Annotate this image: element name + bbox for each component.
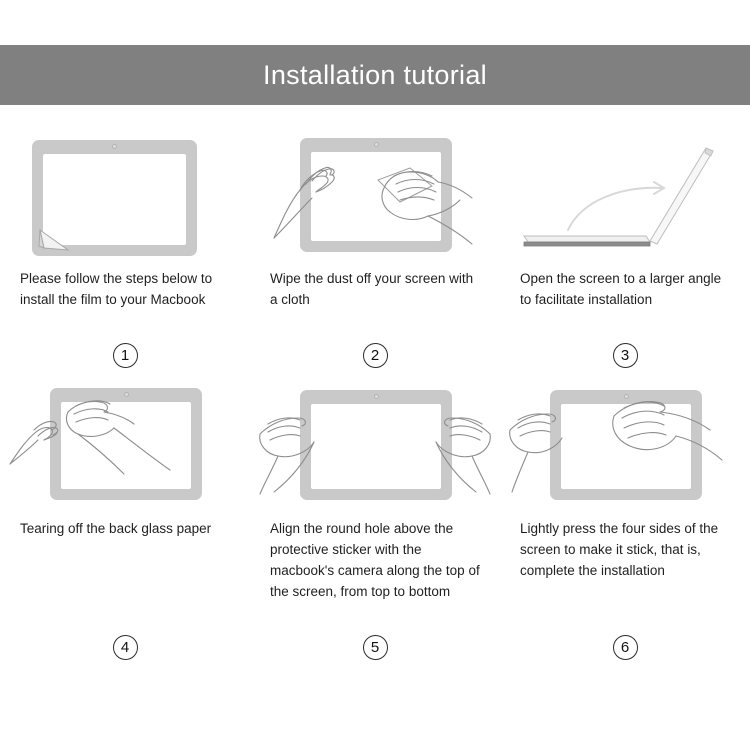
step-number-badge: 2 <box>363 343 388 368</box>
step-1-illustration <box>10 128 240 256</box>
step-caption: Tearing off the back glass paper <box>20 518 230 624</box>
hands-tearing-back-paper-icon <box>10 378 240 506</box>
step-number-wrap: 2 <box>363 332 388 378</box>
step-number-badge: 6 <box>613 635 638 660</box>
step-5-illustration <box>260 378 490 506</box>
step-number-badge: 1 <box>113 343 138 368</box>
camera-dot-icon <box>112 144 117 149</box>
step-card-4: Tearing off the back glass paper 4 <box>0 378 250 670</box>
steps-grid: Please follow the steps below to install… <box>0 128 750 670</box>
hands-wiping-screen-with-cloth-icon <box>260 128 490 256</box>
step-4-illustration <box>10 378 240 506</box>
step-caption: Open the screen to a larger angle to fac… <box>520 268 730 332</box>
header-banner: Installation tutorial <box>0 45 750 105</box>
step-number-badge: 3 <box>613 343 638 368</box>
step-caption: Wipe the dust off your screen with a clo… <box>270 268 480 332</box>
tablet-screen-with-peeling-film-icon <box>32 140 197 256</box>
hands-aligning-film-icon <box>260 378 490 506</box>
step-caption: Align the round hole above the protectiv… <box>270 518 480 624</box>
step-3-illustration <box>510 128 740 256</box>
peeling-film-corner-icon <box>38 228 78 254</box>
step-number-wrap: 5 <box>363 624 388 670</box>
laptop-opening-angle-icon <box>510 128 740 256</box>
step-number-badge: 5 <box>363 635 388 660</box>
step-card-5: Align the round hole above the protectiv… <box>250 378 500 670</box>
page-title: Installation tutorial <box>263 62 487 89</box>
hands-pressing-film-sides-icon <box>510 378 740 506</box>
step-number-badge: 4 <box>113 635 138 660</box>
step-number-wrap: 3 <box>613 332 638 378</box>
step-number-wrap: 4 <box>113 624 138 670</box>
step-6-illustration <box>510 378 740 506</box>
step-caption: Please follow the steps below to install… <box>20 268 230 332</box>
step-card-6: Lightly press the four sides of the scre… <box>500 378 750 670</box>
step-number-wrap: 6 <box>613 624 638 670</box>
step-card-2: Wipe the dust off your screen with a clo… <box>250 128 500 378</box>
step-card-1: Please follow the steps below to install… <box>0 128 250 378</box>
step-card-3: Open the screen to a larger angle to fac… <box>500 128 750 378</box>
step-caption: Lightly press the four sides of the scre… <box>520 518 730 624</box>
step-2-illustration <box>260 128 490 256</box>
step-number-wrap: 1 <box>113 332 138 378</box>
